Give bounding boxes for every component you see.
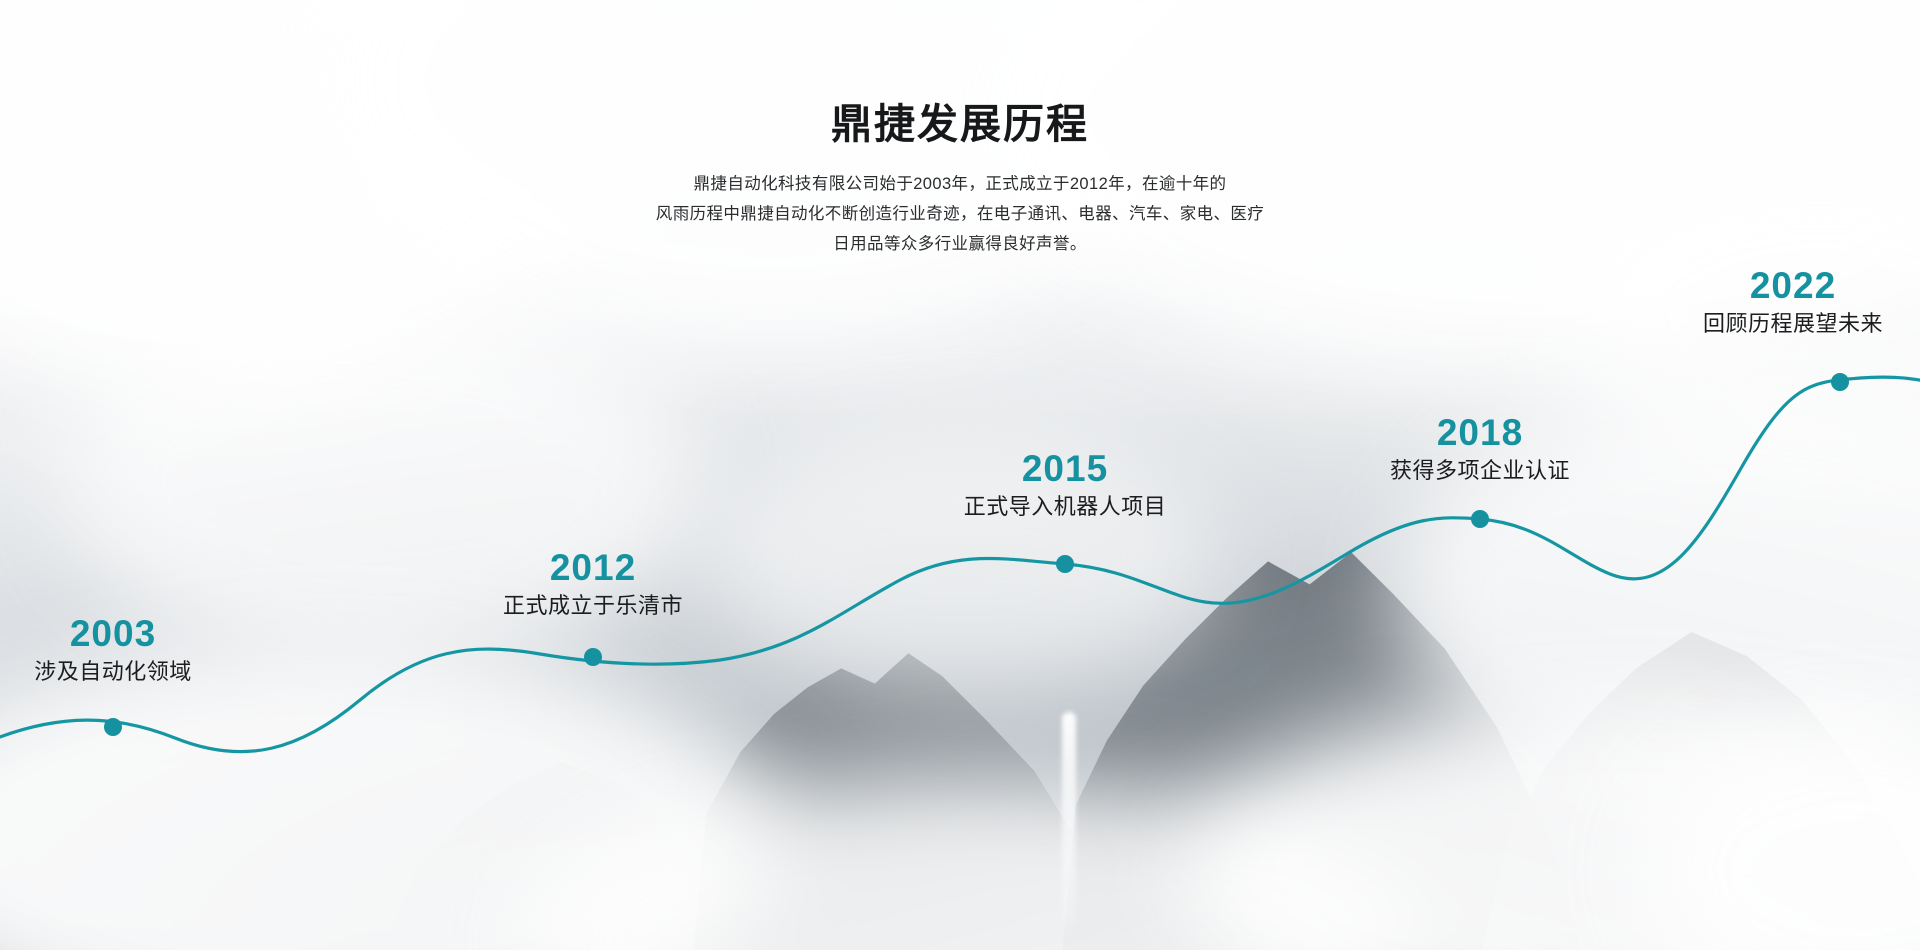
milestone-year: 2018 — [1390, 414, 1570, 453]
timeline-dot-group — [104, 373, 1849, 736]
milestone-label: 获得多项企业认证 — [1390, 457, 1570, 485]
milestone-label: 正式成立于乐清市 — [503, 592, 683, 620]
milestone-year: 2012 — [503, 549, 683, 588]
milestone-label: 回顾历程展望未来 — [1703, 310, 1883, 338]
milestone-2022[interactable]: 2022回顾历程展望未来 — [1703, 267, 1883, 337]
timeline-curve — [0, 377, 1920, 752]
milestone-year: 2015 — [964, 450, 1167, 489]
timeline-chart — [0, 0, 1920, 950]
milestone-2012[interactable]: 2012正式成立于乐清市 — [503, 549, 683, 619]
milestone-2003[interactable]: 2003涉及自动化领域 — [34, 615, 192, 685]
timeline-dot-2022[interactable] — [1831, 373, 1849, 391]
timeline-dot-2003[interactable] — [104, 718, 122, 736]
timeline-dot-2015[interactable] — [1056, 555, 1074, 573]
milestone-2018[interactable]: 2018获得多项企业认证 — [1390, 414, 1570, 484]
infographic-canvas: 鼎捷发展历程 鼎捷自动化科技有限公司始于2003年，正式成立于2012年，在逾十… — [0, 0, 1920, 950]
milestone-year: 2003 — [34, 615, 192, 654]
milestone-2015[interactable]: 2015正式导入机器人项目 — [964, 450, 1167, 520]
milestone-label: 涉及自动化领域 — [34, 658, 192, 686]
timeline-dot-2012[interactable] — [584, 648, 602, 666]
milestone-year: 2022 — [1703, 267, 1883, 306]
milestone-label: 正式导入机器人项目 — [964, 493, 1167, 521]
timeline-dot-2018[interactable] — [1471, 510, 1489, 528]
